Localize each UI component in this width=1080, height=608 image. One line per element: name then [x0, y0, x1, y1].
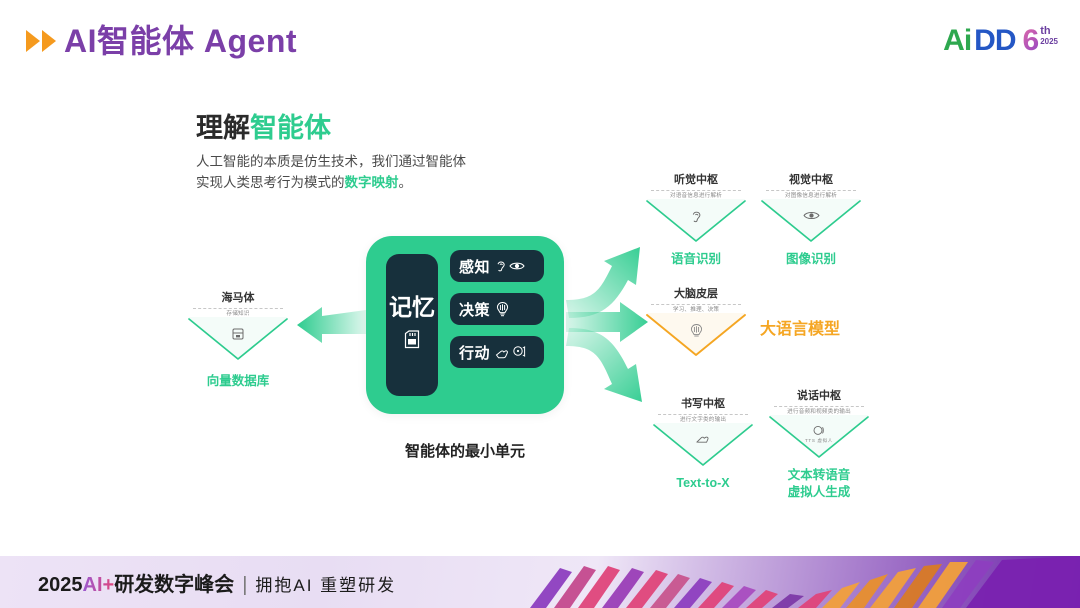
arrow-to-decision [566, 302, 648, 342]
agent-core-card: 记忆 感知 [366, 236, 564, 414]
ear-icon [495, 259, 507, 273]
pill-perception[interactable]: 感知 [450, 250, 544, 282]
logo-year: 2025 [1040, 37, 1058, 47]
intro-line-2-highlight: 数字映射 [345, 175, 399, 190]
divider [774, 406, 864, 407]
footer-summit: 研发数字峰会 [114, 568, 234, 597]
funnel-writing-title: 书写中枢 [652, 398, 754, 411]
intro-line-1: 人工智能的本质是仿生技术，我们通过智能体 [196, 154, 466, 169]
speech-icon [812, 425, 827, 437]
funnel-cortex-title: 大脑皮层 [645, 288, 747, 301]
funnel-auditory: 听觉中枢 对语音信息进行解析 语音识别 [645, 174, 747, 268]
logo-th-suffix: th [1040, 26, 1050, 37]
funnel-speech: 说话中枢 进行音频和视频类的输出 TTS 虚拟人 文本转语音 虚拟人生成 [768, 390, 870, 501]
arrow-to-memory [297, 307, 366, 343]
funnel-speech-output: 文本转语音 虚拟人生成 [768, 467, 870, 501]
funnel-speech-output-line2: 虚拟人生成 [788, 485, 851, 499]
intro-line-2a: 实现人类思考行为模式的 [196, 175, 345, 190]
funnel-speech-icon-label: TTS 虚拟人 [805, 438, 833, 444]
double-triangle-right-icon [26, 30, 56, 52]
footer-divider: | [242, 574, 247, 597]
footer-tagline: 拥抱AI 重塑研发 [255, 571, 396, 596]
intro-heading-black: 理解 [196, 113, 250, 143]
funnel-shape [760, 199, 862, 245]
arrow-to-perception [566, 247, 640, 318]
footer-year: 2025 [38, 574, 83, 597]
funnel-cortex-output: 大语言模型 [760, 319, 840, 341]
funnel-memory: 海马体 存储知识 向量数据库 [187, 292, 289, 390]
funnel-speech-output-line1: 文本转语音 [788, 468, 851, 482]
slide-root: AI智能体 Agent Ai DD 6 th 2025 理解智能体 人工智能的本… [0, 0, 1080, 608]
aidd-logo: Ai DD 6 th 2025 [943, 20, 1058, 62]
divider [766, 190, 856, 191]
funnel-speech-title: 说话中枢 [768, 390, 870, 403]
lightbulb-icon [495, 301, 510, 317]
intro-block: 理解智能体 人工智能的本质是仿生技术，我们通过智能体 实现人类思考行为模式的数字… [196, 112, 526, 194]
hand-icon [495, 346, 510, 359]
funnel-memory-title: 海马体 [187, 292, 289, 305]
funnel-memory-output: 向量数据库 [187, 373, 289, 390]
logo-dd-text: DD [974, 26, 1015, 56]
divider [658, 414, 748, 415]
pill-decision-label: 决策 [459, 299, 490, 320]
arrow-to-action [566, 328, 642, 402]
intro-line-2c: 。 [399, 175, 413, 190]
eye-icon [509, 260, 525, 272]
intro-heading: 理解智能体 [196, 112, 526, 144]
funnel-writing: 书写中枢 进行文字类的输出 Text-to-X [652, 398, 754, 492]
funnel-writing-output: Text-to-X [652, 475, 754, 492]
sd-card-icon [404, 330, 420, 354]
logo-ai-text: Ai [943, 26, 971, 56]
slide-header: AI智能体 Agent Ai DD 6 th 2025 [0, 0, 1080, 90]
divider [193, 308, 283, 309]
eye-icon [803, 209, 820, 222]
logo-edition: 6 th 2025 [1023, 26, 1058, 56]
database-icon [231, 327, 245, 341]
divider [651, 190, 741, 191]
capability-pill-list: 感知 决策 [450, 250, 544, 368]
footer-brand: 2025AI+研发数字峰会 | 拥抱AI 重塑研发 [38, 568, 396, 597]
lightbulb-icon [689, 323, 704, 339]
write-cloud-icon [695, 433, 711, 445]
funnel-auditory-output: 语音识别 [645, 251, 747, 268]
agent-core-caption: 智能体的最小单元 [366, 440, 564, 461]
funnel-cortex: 大脑皮层 学习、推理、决策 [645, 288, 747, 359]
pill-decision[interactable]: 决策 [450, 293, 544, 325]
funnel-visual-output: 图像识别 [760, 251, 862, 268]
funnel-shape [652, 423, 754, 469]
memory-panel: 记忆 [386, 254, 438, 396]
funnel-visual: 视觉中枢 对图像信息进行解析 图像识别 [760, 174, 862, 268]
logo-six-number: 6 [1023, 26, 1040, 56]
funnel-auditory-title: 听觉中枢 [645, 174, 747, 187]
intro-paragraph: 人工智能的本质是仿生技术，我们通过智能体 实现人类思考行为模式的数字映射。 [196, 152, 526, 194]
ear-icon [690, 209, 703, 224]
slide-footer: 2025AI+研发数字峰会 | 拥抱AI 重塑研发 [0, 556, 1080, 608]
footer-ai-plus: AI+ [83, 574, 115, 597]
pill-action[interactable]: 行动 [450, 336, 544, 368]
pill-action-label: 行动 [459, 342, 490, 363]
pill-perception-label: 感知 [459, 256, 490, 277]
memory-label: 记忆 [389, 296, 435, 320]
robot-icon [512, 345, 526, 359]
ribbon-decoration [520, 556, 1080, 608]
intro-heading-green: 智能体 [250, 113, 331, 143]
divider [651, 304, 741, 305]
page-title: AI智能体 Agent [64, 16, 297, 62]
funnel-visual-title: 视觉中枢 [760, 174, 862, 187]
